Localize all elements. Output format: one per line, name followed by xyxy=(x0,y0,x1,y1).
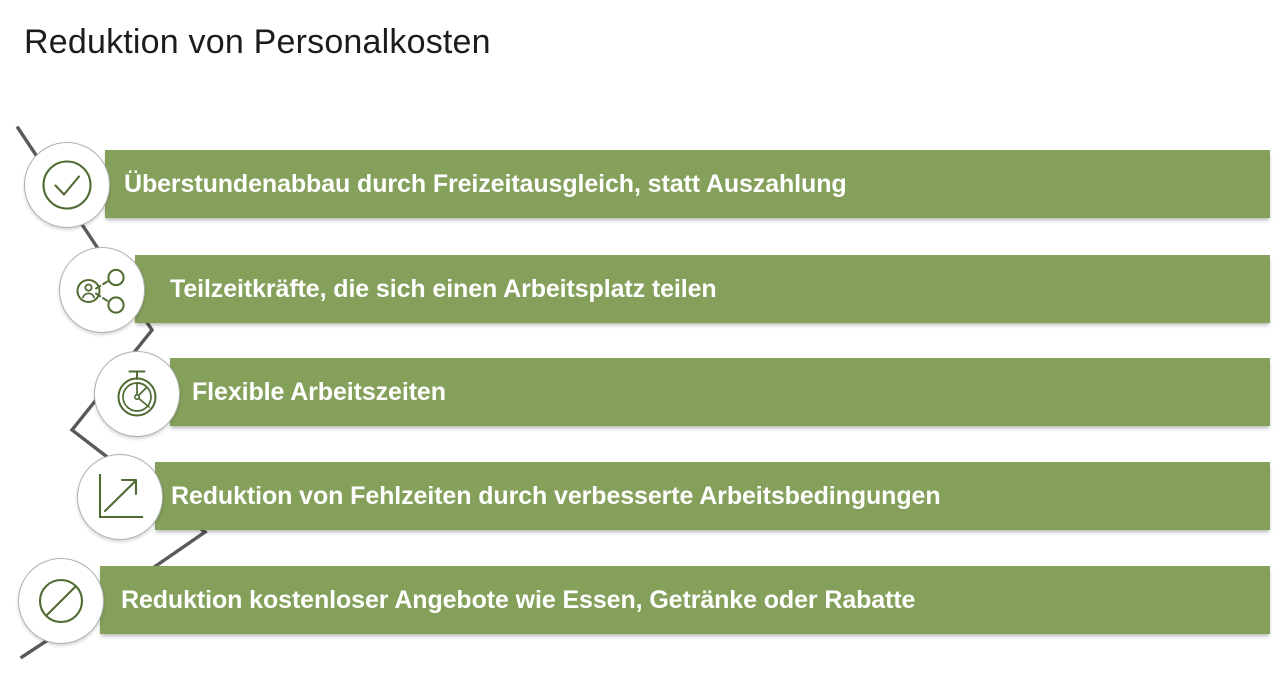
no-entry-icon xyxy=(32,572,90,630)
badge-3[interactable] xyxy=(94,351,180,437)
content-bar-2[interactable]: Teilzeitkräfte, die sich einen Arbeitspl… xyxy=(135,255,1270,323)
bar-label-5: Reduktion kostenloser Angebote wie Essen… xyxy=(121,588,915,613)
check-circle-icon xyxy=(38,156,96,214)
bar-label-1: Überstundenabbau durch Freizeitausgleich… xyxy=(124,172,847,197)
slide-canvas: Reduktion von Personalkosten Überstunden… xyxy=(0,0,1282,699)
stopwatch-icon xyxy=(108,365,166,423)
badge-1[interactable] xyxy=(24,142,110,228)
content-bar-1[interactable]: Überstundenabbau durch Freizeitausgleich… xyxy=(105,150,1270,218)
bar-label-4: Reduktion von Fehlzeiten durch verbesser… xyxy=(171,484,941,509)
bar-label-3: Flexible Arbeitszeiten xyxy=(192,380,446,405)
badge-4[interactable] xyxy=(77,454,163,540)
badge-5[interactable] xyxy=(18,558,104,644)
growth-chart-icon xyxy=(91,468,149,526)
page-title: Reduktion von Personalkosten xyxy=(24,22,491,63)
content-bar-5[interactable]: Reduktion kostenloser Angebote wie Essen… xyxy=(100,566,1270,634)
content-bar-3[interactable]: Flexible Arbeitszeiten xyxy=(170,358,1270,426)
share-network-icon xyxy=(73,261,131,319)
badge-2[interactable] xyxy=(59,247,145,333)
content-bar-4[interactable]: Reduktion von Fehlzeiten durch verbesser… xyxy=(155,462,1270,530)
bar-label-2: Teilzeitkräfte, die sich einen Arbeitspl… xyxy=(170,277,717,302)
